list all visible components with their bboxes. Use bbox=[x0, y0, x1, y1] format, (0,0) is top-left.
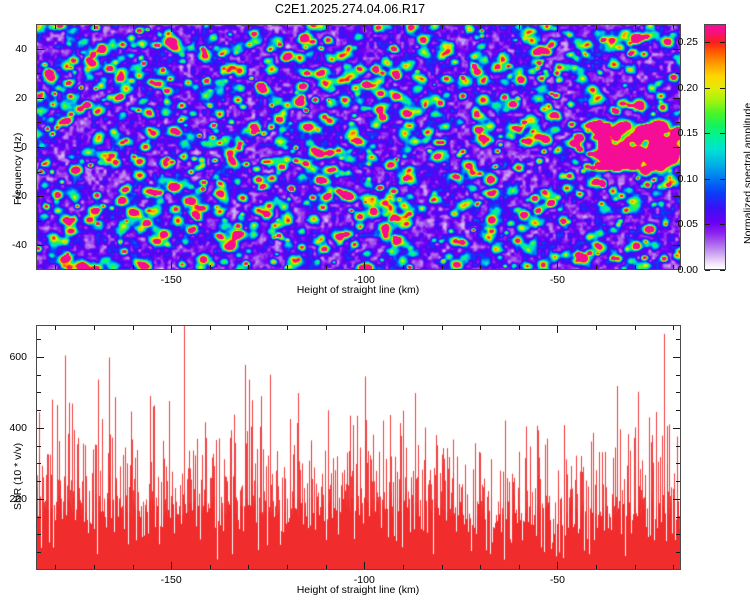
spectrogram-xtick-top bbox=[442, 25, 443, 29]
snr-ytick-right bbox=[676, 392, 680, 393]
snr-ytick-label: 400 bbox=[0, 422, 27, 434]
snr-panel bbox=[36, 325, 681, 570]
spectrogram-xtick bbox=[403, 265, 404, 269]
spectrogram-xtick bbox=[94, 265, 95, 269]
spectrogram-ytick-right bbox=[673, 98, 680, 99]
spectrogram-xtick-top bbox=[480, 25, 481, 29]
snr-xtick bbox=[94, 565, 95, 569]
colorbar-tick-right bbox=[720, 224, 725, 225]
snr-xtick-top bbox=[133, 326, 134, 330]
snr-ytick-right bbox=[676, 552, 680, 553]
snr-xtick-label: -50 bbox=[550, 574, 565, 586]
spectrogram-ytick-right bbox=[676, 122, 680, 123]
colorbar-title: Normalized spectral amplitude bbox=[742, 103, 750, 244]
spectrogram-xtick-label: -50 bbox=[550, 274, 565, 286]
spectrogram-xtick bbox=[596, 265, 597, 269]
snr-ytick bbox=[37, 552, 41, 553]
snr-ytick bbox=[37, 446, 41, 447]
spectrogram-ytick-right bbox=[676, 73, 680, 74]
colorbar-tick bbox=[705, 133, 710, 134]
snr-xtick-top bbox=[326, 326, 327, 330]
colorbar-tick-label: 0.25 bbox=[664, 36, 698, 48]
spectrogram-ytick-label: 20 bbox=[0, 92, 27, 104]
snr-xtick-top bbox=[519, 326, 520, 330]
snr-xtick bbox=[287, 565, 288, 569]
snr-ytick-right bbox=[676, 517, 680, 518]
colorbar-tick bbox=[705, 88, 710, 89]
colorbar-tick bbox=[705, 42, 710, 43]
snr-ytick-right bbox=[676, 375, 680, 376]
spectrogram-xtick bbox=[364, 262, 365, 269]
colorbar-tick-right bbox=[720, 88, 725, 89]
spectrogram-xtick-top bbox=[94, 25, 95, 29]
spectrogram-xtick-top bbox=[171, 25, 172, 32]
snr-xtick bbox=[480, 565, 481, 569]
snr-ytick bbox=[37, 534, 41, 535]
spectrogram-xtick-top bbox=[364, 25, 365, 32]
colorbar-tick-label: 0.20 bbox=[664, 82, 698, 94]
snr-xtick-top bbox=[596, 326, 597, 330]
colorbar-tick-right bbox=[720, 42, 725, 43]
spectrogram-xtick-top bbox=[248, 25, 249, 29]
snr-xtick-top bbox=[55, 326, 56, 330]
snr-xtick-label: -150 bbox=[161, 574, 182, 586]
spectrogram-xtick-top bbox=[519, 25, 520, 29]
spectrogram-ytick-label: 40 bbox=[0, 43, 27, 55]
spectrogram-ytick-label: -40 bbox=[0, 239, 27, 251]
spectrogram-xaxis-title: Height of straight line (km) bbox=[297, 284, 420, 296]
colorbar-tick-label: 0.05 bbox=[664, 218, 698, 230]
spectrogram-ytick-right bbox=[673, 196, 680, 197]
snr-xtick bbox=[442, 565, 443, 569]
snr-ytick bbox=[37, 428, 44, 429]
snr-yaxis-title: SNR (10 * v/v) bbox=[12, 443, 24, 510]
spectrogram-ytick bbox=[37, 196, 44, 197]
snr-ytick-right bbox=[676, 339, 680, 340]
spectrogram-xtick-top bbox=[55, 25, 56, 29]
snr-xtick bbox=[596, 565, 597, 569]
snr-xtick-top bbox=[94, 326, 95, 330]
snr-xtick bbox=[171, 562, 172, 569]
colorbar-tick-label: 0.00 bbox=[664, 264, 698, 276]
snr-xtick bbox=[326, 565, 327, 569]
spectrogram-ytick-right bbox=[673, 147, 680, 148]
spectrogram-xtick bbox=[210, 265, 211, 269]
snr-xtick-top bbox=[248, 326, 249, 330]
spectrogram-xtick-top bbox=[673, 25, 674, 29]
snr-xtick bbox=[635, 565, 636, 569]
spectrogram-xtick bbox=[557, 262, 558, 269]
figure-title: C2E1.2025.274.04.06.R17 bbox=[0, 2, 700, 16]
spectrogram-xtick bbox=[55, 265, 56, 269]
spectrogram-xtick-top bbox=[635, 25, 636, 29]
spectrogram-xtick bbox=[519, 265, 520, 269]
spectrogram-ytick bbox=[37, 122, 41, 123]
snr-ytick bbox=[37, 463, 41, 464]
snr-xaxis-title: Height of straight line (km) bbox=[297, 584, 420, 596]
snr-xtick bbox=[403, 565, 404, 569]
colorbar-tick-label: 0.10 bbox=[664, 173, 698, 185]
spectrogram-xtick bbox=[171, 262, 172, 269]
spectrogram-xtick-top bbox=[326, 25, 327, 29]
colorbar-tick bbox=[705, 179, 710, 180]
snr-xtick-top bbox=[210, 326, 211, 330]
spectrogram-xtick bbox=[287, 265, 288, 269]
snr-xtick bbox=[364, 562, 365, 569]
snr-plot-trace bbox=[36, 325, 681, 570]
colorbar bbox=[704, 24, 726, 270]
snr-xtick bbox=[519, 565, 520, 569]
colorbar-tick bbox=[705, 224, 710, 225]
snr-xtick bbox=[673, 565, 674, 569]
snr-ytick-right bbox=[673, 428, 680, 429]
snr-ytick-label: 600 bbox=[0, 351, 27, 363]
spectrogram-xtick bbox=[248, 265, 249, 269]
snr-ytick bbox=[37, 357, 44, 358]
snr-ytick bbox=[37, 339, 41, 340]
snr-ytick bbox=[37, 392, 41, 393]
snr-xtick-top bbox=[442, 326, 443, 330]
spectrogram-xtick-top bbox=[133, 25, 134, 29]
spectrogram-ytick bbox=[37, 73, 41, 74]
spectrogram-ytick bbox=[37, 245, 44, 246]
spectrogram-xtick bbox=[326, 265, 327, 269]
snr-xtick-top bbox=[403, 326, 404, 330]
spectrogram-xtick-top bbox=[403, 25, 404, 29]
figure-root: C2E1.2025.274.04.06.R17 -150-100-5040200… bbox=[0, 0, 750, 600]
spectrogram-yaxis-title: Frequency (Hz) bbox=[12, 133, 24, 205]
snr-xtick-top bbox=[480, 326, 481, 330]
spectrogram-panel bbox=[36, 24, 681, 270]
snr-xtick bbox=[210, 565, 211, 569]
spectrogram-xtick-top bbox=[287, 25, 288, 29]
snr-ytick bbox=[37, 410, 41, 411]
colorbar-gradient bbox=[704, 24, 726, 270]
colorbar-tick-right bbox=[720, 270, 725, 271]
snr-xtick bbox=[55, 565, 56, 569]
snr-xtick bbox=[557, 562, 558, 569]
snr-xtick-top bbox=[635, 326, 636, 330]
spectrogram-ytick-right bbox=[673, 245, 680, 246]
colorbar-tick-right bbox=[720, 133, 725, 134]
snr-ytick bbox=[37, 375, 41, 376]
spectrogram-ytick bbox=[37, 172, 41, 173]
snr-xtick-top bbox=[364, 326, 365, 333]
spectrogram-xtick-top bbox=[557, 25, 558, 32]
spectrogram-xtick-top bbox=[210, 25, 211, 29]
spectrogram-xtick-top bbox=[596, 25, 597, 29]
snr-xtick-top bbox=[673, 326, 674, 330]
spectrogram-xtick bbox=[442, 265, 443, 269]
spectrogram-xtick-label: -150 bbox=[161, 274, 182, 286]
snr-xtick-top bbox=[171, 326, 172, 333]
spectrogram-ytick bbox=[37, 98, 44, 99]
snr-xtick bbox=[133, 565, 134, 569]
snr-ytick-right bbox=[676, 481, 680, 482]
spectrogram-image bbox=[36, 24, 681, 270]
spectrogram-ytick bbox=[37, 49, 44, 50]
snr-xtick-top bbox=[557, 326, 558, 333]
colorbar-tick-right bbox=[720, 179, 725, 180]
snr-ytick-right bbox=[676, 446, 680, 447]
spectrogram-xtick bbox=[480, 265, 481, 269]
snr-ytick bbox=[37, 517, 41, 518]
spectrogram-xtick bbox=[133, 265, 134, 269]
snr-ytick bbox=[37, 481, 41, 482]
snr-xtick bbox=[248, 565, 249, 569]
colorbar-tick bbox=[705, 270, 710, 271]
spectrogram-xtick bbox=[635, 265, 636, 269]
snr-ytick-right bbox=[676, 410, 680, 411]
spectrogram-ytick bbox=[37, 147, 44, 148]
snr-ytick-right bbox=[673, 499, 680, 500]
snr-ytick-right bbox=[673, 357, 680, 358]
colorbar-tick-label: 0.15 bbox=[664, 127, 698, 139]
snr-ytick bbox=[37, 499, 44, 500]
spectrogram-ytick bbox=[37, 221, 41, 222]
snr-ytick-right bbox=[676, 534, 680, 535]
snr-xtick-top bbox=[287, 326, 288, 330]
snr-ytick-right bbox=[676, 463, 680, 464]
spectrogram-ytick-right bbox=[673, 49, 680, 50]
